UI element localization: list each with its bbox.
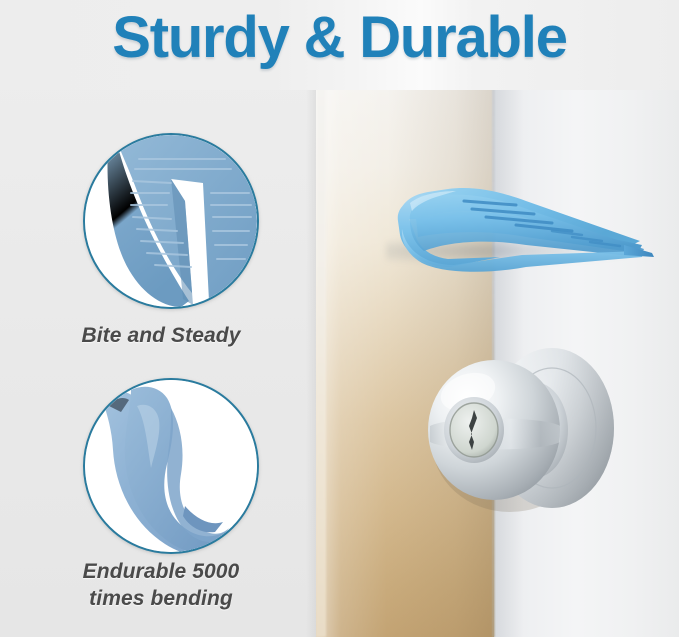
door-panel-shading bbox=[316, 0, 494, 637]
caption-line-1: Endurable 5000 bbox=[0, 558, 322, 585]
door-knob bbox=[424, 330, 634, 530]
feature-caption-endurable-bending: Endurable 5000 times bending bbox=[0, 558, 322, 612]
product-feature-poster: Sturdy & Durable bbox=[0, 0, 679, 637]
door-wall-junction-line bbox=[492, 0, 495, 637]
door-stop-wedge bbox=[376, 175, 676, 280]
page-title: Sturdy & Durable bbox=[0, 4, 679, 71]
caption-line-2: times bending bbox=[0, 585, 322, 612]
product-photo-scene bbox=[316, 0, 679, 637]
wall-corner-shadow bbox=[490, 0, 524, 637]
feature-icon-bite-and-steady bbox=[83, 133, 259, 309]
door-stop-wedge-shape bbox=[376, 175, 676, 275]
door-knob-shape bbox=[424, 330, 634, 530]
feature-caption-bite-and-steady: Bite and Steady bbox=[0, 322, 322, 349]
door-left-edge bbox=[316, 0, 326, 637]
headline-band: Sturdy & Durable bbox=[0, 0, 679, 90]
door-stop-wedge-bending-closeup-icon bbox=[85, 380, 257, 552]
feature-icon-endurable-bending bbox=[83, 378, 259, 554]
caption-line: Bite and Steady bbox=[0, 322, 322, 349]
door-stop-wedge-bite-closeup-icon bbox=[85, 135, 257, 307]
